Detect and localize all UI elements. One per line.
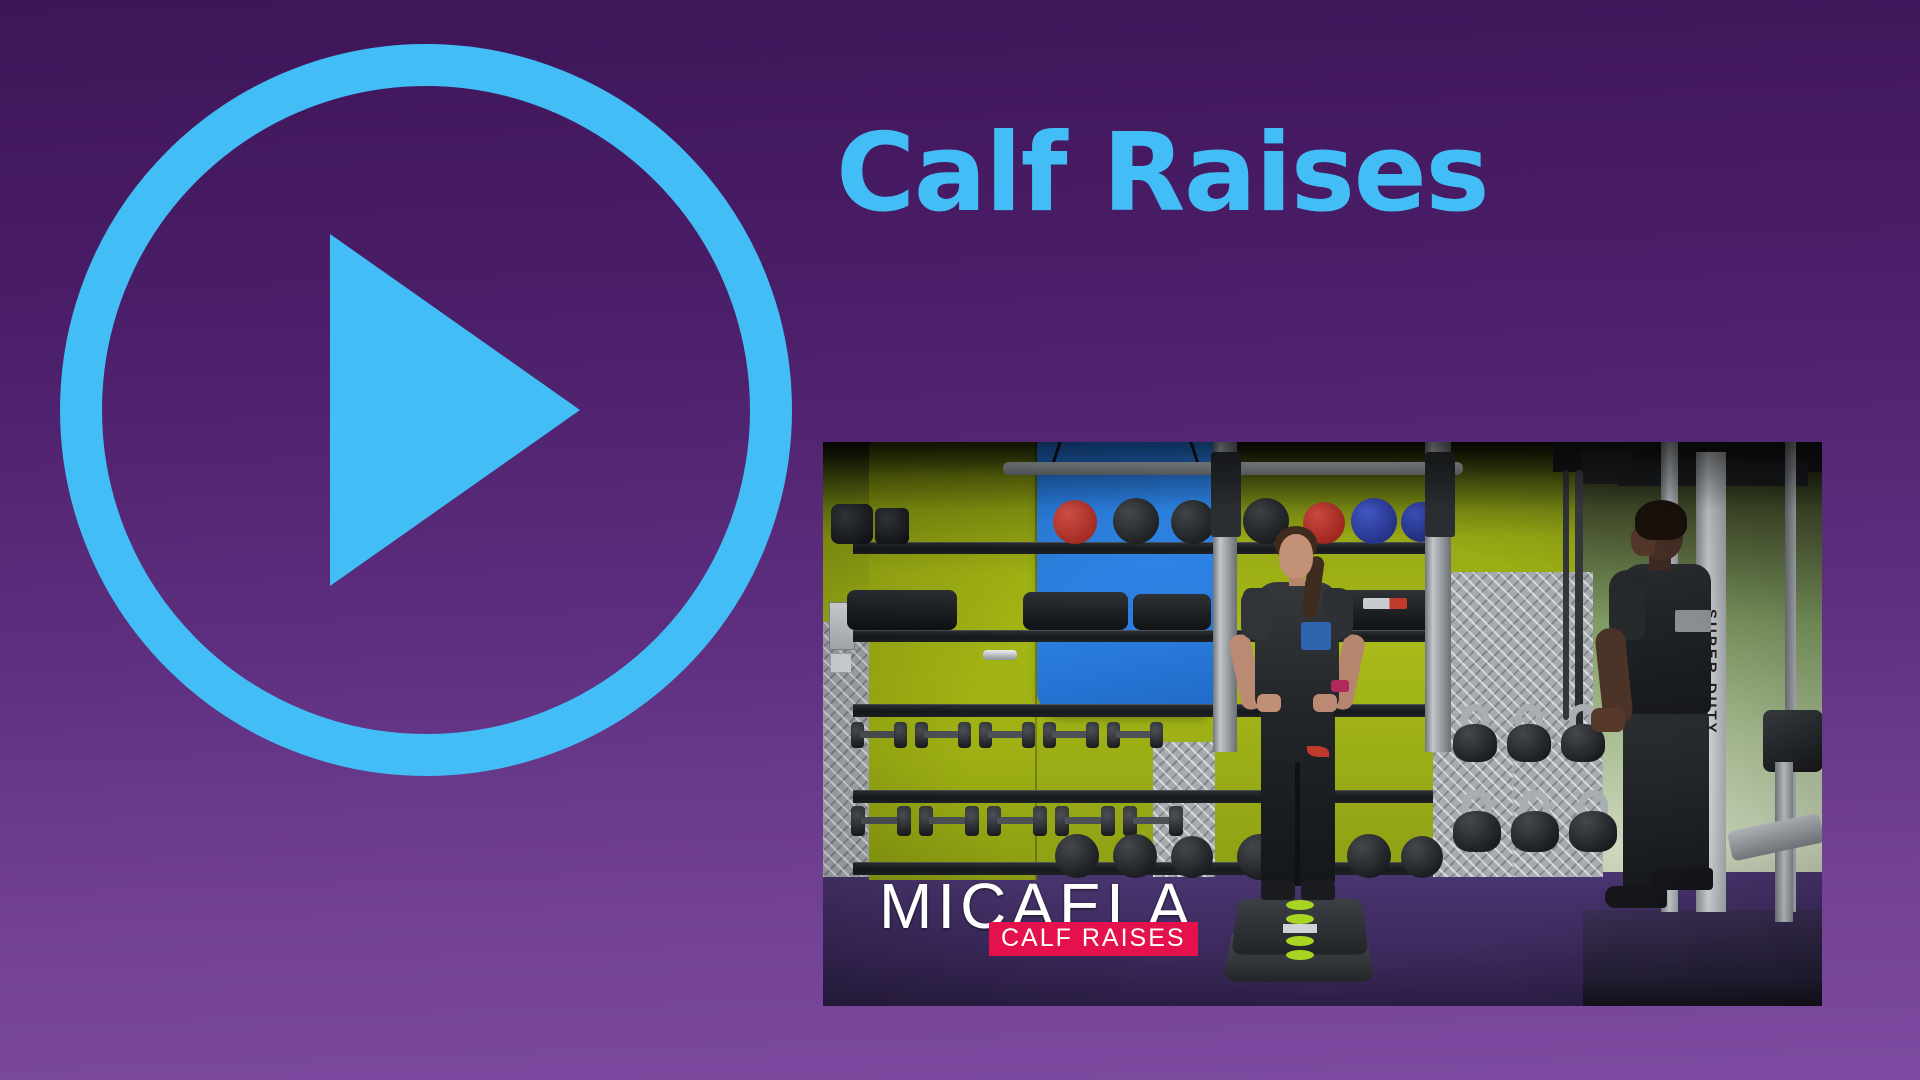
medicine-ball xyxy=(1171,500,1215,544)
kettlebell xyxy=(1569,790,1617,852)
trainer-shirt-print xyxy=(1675,610,1711,632)
gym-bag xyxy=(1133,594,1211,630)
door-handle xyxy=(983,650,1017,660)
rack-bracket xyxy=(1211,452,1241,537)
dumbbell xyxy=(919,804,979,838)
trainer-hand xyxy=(1591,708,1625,732)
dumbbell xyxy=(915,720,971,750)
dumbbell xyxy=(1043,720,1099,750)
exerciser-hand xyxy=(1313,694,1337,712)
kettlebell xyxy=(1453,790,1501,852)
rack-bracket xyxy=(1425,452,1455,537)
exerciser-shoe xyxy=(1301,880,1335,900)
medicine-ball xyxy=(1351,498,1397,544)
play-triangle-icon xyxy=(330,234,580,586)
medicine-ball xyxy=(1053,500,1097,544)
battle-rope xyxy=(1563,470,1569,720)
blue-exercise-mat xyxy=(1037,442,1217,714)
kettlebell xyxy=(1507,704,1551,762)
slam-ball xyxy=(1401,836,1443,878)
exerciser-sleeve xyxy=(1241,588,1271,640)
dumbbell xyxy=(851,804,911,838)
exerciser-shirt-logo xyxy=(1301,622,1331,650)
dumbbell xyxy=(979,720,1035,750)
trainer-hair xyxy=(1635,500,1687,540)
play-button[interactable] xyxy=(60,44,792,776)
exerciser-leg-gap xyxy=(1295,762,1300,886)
gym-floor-shadow xyxy=(1583,910,1822,1006)
trainer-shoe xyxy=(1651,868,1713,890)
exerciser-wristband xyxy=(1331,680,1349,692)
dumbbell xyxy=(1107,720,1163,750)
page-title: Calf Raises xyxy=(836,120,1488,228)
rack-shelf xyxy=(853,790,1433,803)
gym-bag xyxy=(847,590,957,630)
bag-logo xyxy=(1363,598,1407,609)
kettlebell xyxy=(1453,704,1497,762)
medicine-ball xyxy=(1113,498,1159,544)
slam-ball xyxy=(1347,834,1391,878)
dumbbell xyxy=(1055,804,1115,838)
dumbbell xyxy=(987,804,1047,838)
medicine-ball xyxy=(831,504,873,544)
exercise-video-thumbnail[interactable]: SUPER DUTY xyxy=(823,442,1822,1006)
trainer-legs xyxy=(1623,708,1709,890)
rack-shelf xyxy=(853,542,1433,554)
exerciser-head xyxy=(1279,534,1313,578)
dumbbell xyxy=(851,720,907,750)
exerciser-hand xyxy=(1257,694,1281,712)
dumbbell xyxy=(1123,804,1183,838)
watermark-exercise-badge: CALF RAISES xyxy=(989,922,1198,956)
kettlebell xyxy=(1511,790,1559,852)
video-watermark: MICAELA CALF RAISES xyxy=(879,874,1299,984)
medicine-ball xyxy=(875,508,909,544)
gym-bag xyxy=(1023,592,1128,630)
wall-panel xyxy=(831,654,851,672)
gym-bag xyxy=(1339,590,1435,630)
